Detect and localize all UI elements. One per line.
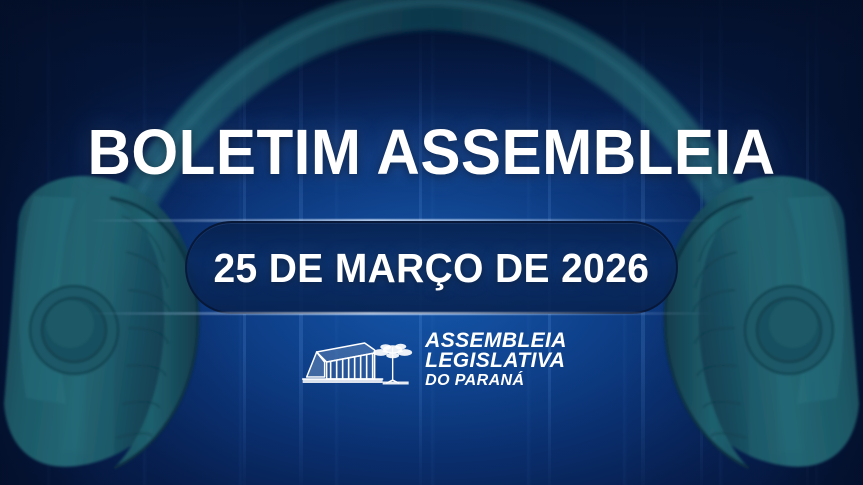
logo-line-do-parana: DO PARANÁ [425,371,567,390]
date-pill: 25 DE MARÇO DE 2026 [185,221,678,314]
logo-line-assembleia: ASSEMBLEIA [425,331,567,351]
logo-line-legislativa: LEGISLATIVA [425,351,567,371]
page-title: BOLETIM ASSEMBLEIA [26,117,837,187]
date-label: 25 DE MARÇO DE 2026 [214,246,650,290]
boletim-assembleia-banner: BOLETIM ASSEMBLEIA 25 DE MARÇO DE 2026 [0,0,863,485]
assembleia-building-araucaria-icon [296,333,416,389]
banner-content: BOLETIM ASSEMBLEIA 25 DE MARÇO DE 2026 [0,0,863,485]
logo-wordmark: ASSEMBLEIA LEGISLATIVA DO PARANÁ [425,331,567,390]
assembleia-legislativa-logo: ASSEMBLEIA LEGISLATIVA DO PARANÁ [296,331,567,390]
